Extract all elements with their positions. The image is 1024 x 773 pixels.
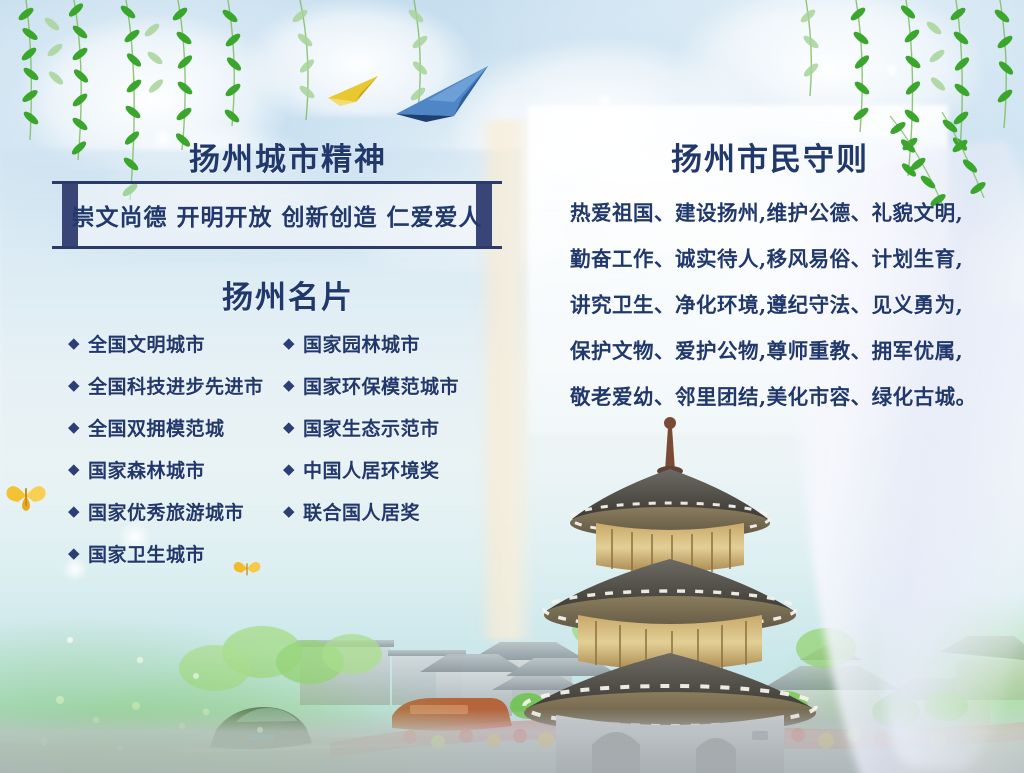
citizen-code-line: 勤奋工作、诚实待人,移风易俗、计划生育, <box>570 236 970 282</box>
list-item-label: 国家森林城市 <box>88 456 205 483</box>
list-item-label: 联合国人居奖 <box>303 498 420 525</box>
city-spirit-title: 扬州城市精神 <box>118 134 458 179</box>
city-spirit-motto: 崇文尚德 开明开放 创新创造 仁爱爱人 <box>71 198 482 232</box>
sparkle <box>596 92 614 110</box>
sparkle <box>884 62 900 78</box>
list-item: ◆ 中国人居环境奖 <box>283 448 488 490</box>
yangzhou-civic-poster: 扬州城市精神 崇文尚德 开明开放 创新创造 仁爱爱人 扬州名片 ◆ 全国文明城市… <box>0 0 1024 773</box>
banner-bottom-rule <box>52 246 502 249</box>
citizen-code-line: 热爱祖国、建设扬州,维护公德、礼貌文明, <box>570 190 970 236</box>
diamond-bullet-icon: ◆ <box>283 420 295 435</box>
diamond-bullet-icon: ◆ <box>68 504 80 519</box>
list-item-label: 国家优秀旅游城市 <box>88 498 244 525</box>
citizen-code-body: 热爱祖国、建设扬州,维护公德、礼貌文明, 勤奋工作、诚实待人,移风易俗、计划生育… <box>570 190 970 420</box>
list-item: ◆ 国家森林城市 <box>68 448 273 490</box>
banner-inner-panel: 崇文尚德 开明开放 创新创造 仁爱爱人 <box>78 184 476 246</box>
list-item-label: 中国人居环境奖 <box>303 456 440 483</box>
citizen-code-title: 扬州市民守则 <box>610 134 930 179</box>
diamond-bullet-icon: ◆ <box>68 378 80 393</box>
list-item: ◆ 国家园林城市 <box>283 322 488 364</box>
citizen-code-line: 保护文物、爱护公物,尊师重教、拥军优属, <box>570 328 970 374</box>
list-item: ◆ 全国科技进步先进市 <box>68 364 273 406</box>
diamond-bullet-icon: ◆ <box>283 504 295 519</box>
diamond-bullet-icon: ◆ <box>283 462 295 477</box>
list-item-label: 全国科技进步先进市 <box>88 372 264 399</box>
diamond-bullet-icon: ◆ <box>68 462 80 477</box>
diamond-bullet-icon: ◆ <box>68 546 80 561</box>
diamond-bullet-icon: ◆ <box>283 378 295 393</box>
list-item-label: 国家卫生城市 <box>88 540 205 567</box>
list-item: ◆ 全国文明城市 <box>68 322 273 364</box>
list-item-label: 全国双拥模范城 <box>88 414 225 441</box>
paper-plane-icon <box>392 62 494 124</box>
list-item-label: 国家环保模范城市 <box>303 372 459 399</box>
city-cards-list: ◆ 全国文明城市 ◆ 全国科技进步先进市 ◆ 全国双拥模范城 ◆ 国家森林城市 … <box>68 322 488 574</box>
citizen-code-line: 敬老爱幼、邻里团结,美化市容、绿化古城。 <box>570 374 970 420</box>
diamond-bullet-icon: ◆ <box>283 336 295 351</box>
list-item-label: 国家园林城市 <box>303 330 420 357</box>
list-item-label: 全国文明城市 <box>88 330 205 357</box>
diamond-bullet-icon: ◆ <box>68 336 80 351</box>
list-item: ◆ 联合国人居奖 <box>283 490 488 532</box>
paper-plane-icon <box>326 72 382 110</box>
list-item: ◆ 国家优秀旅游城市 <box>68 490 273 532</box>
city-spirit-banner: 崇文尚德 开明开放 创新创造 仁爱爱人 <box>52 181 502 249</box>
city-cards-title: 扬州名片 <box>118 272 458 317</box>
citizen-code-line: 讲究卫生、净化环境,遵纪守法、见义勇为, <box>570 282 970 328</box>
butterfly-icon <box>4 478 48 512</box>
list-item: ◆ 国家环保模范城市 <box>283 364 488 406</box>
list-item: ◆ 国家生态示范市 <box>283 406 488 448</box>
diamond-bullet-icon: ◆ <box>68 420 80 435</box>
list-item: ◆ 全国双拥模范城 <box>68 406 273 448</box>
list-item: ◆ 国家卫生城市 <box>68 532 273 574</box>
list-item-label: 国家生态示范市 <box>303 414 440 441</box>
